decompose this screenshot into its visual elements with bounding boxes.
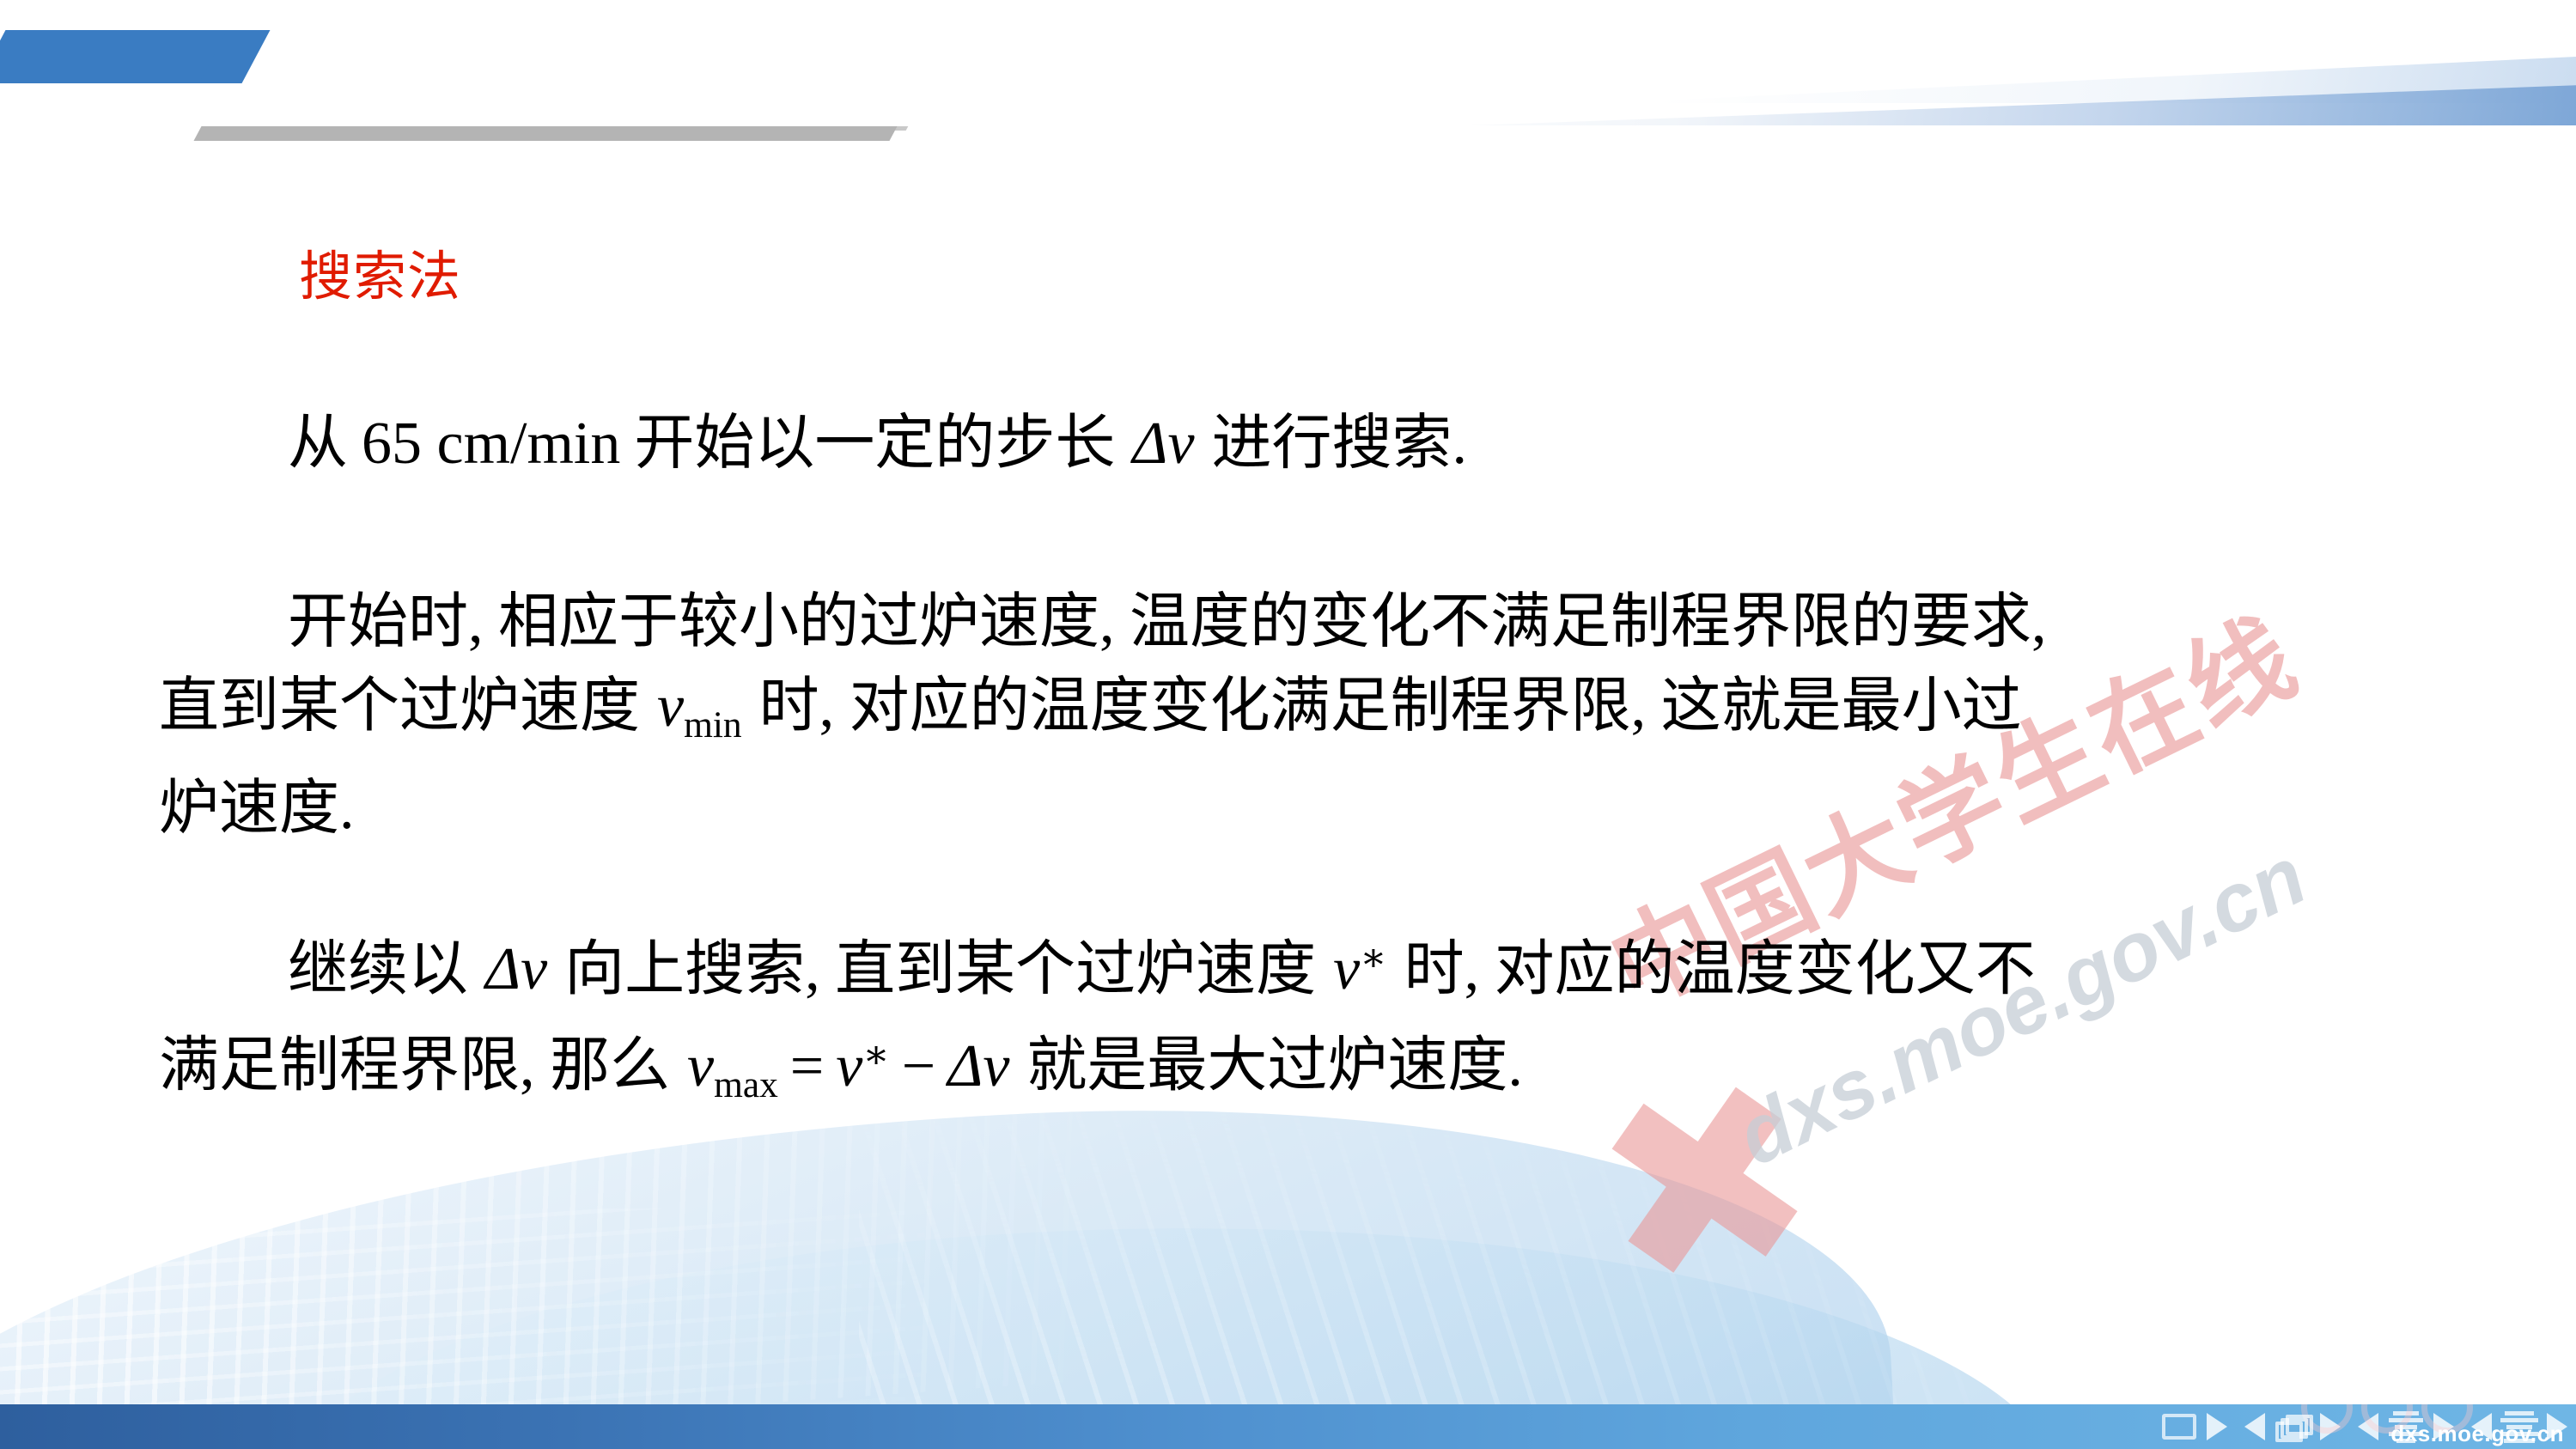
p2-v-min-symbol: vmin: [654, 673, 746, 740]
prev-frame-icon[interactable]: [2236, 1404, 2274, 1449]
slide-content: 搜索法 从65 cm/min开始以一定的步长Δv进行搜索. 开始时, 相应于较小…: [0, 0, 2576, 1449]
p1-speed-value: 65 cm/min: [362, 411, 620, 477]
p3-line1-lead: 继续以: [288, 936, 468, 1002]
p1-delta-v-symbol: Δv: [1129, 411, 1197, 477]
p3-v-star-symbol-2: v∗: [832, 1033, 892, 1099]
p3-delta-v-symbol-2: Δv: [944, 1033, 1013, 1099]
p3-line1-mid: 向上搜索, 直到某个过炉速度: [564, 936, 1316, 1002]
p2-line2-lead: 直到某个过炉速度: [159, 673, 640, 740]
p2-line3: 炉速度.: [159, 776, 355, 842]
p1-text-lead: 从: [288, 411, 348, 477]
p3-line2-lead: 满足制程界限, 那么: [159, 1033, 670, 1099]
equals-operator: =: [782, 1033, 832, 1099]
presentation-slide: ✖ 中国大学生在线 dxs.moe.gov.cn 搜索法 从65 cm/min开…: [0, 0, 2576, 1449]
p2-line2-tail: 时, 对应的温度变化满足制程界限, 这就是最小过: [759, 673, 2022, 740]
navbar-url-label: dxs.moe.gov.cn: [2390, 1421, 2564, 1447]
p3-line2-tail: 就是最大过炉速度.: [1026, 1033, 1523, 1099]
minus-operator: −: [893, 1033, 944, 1099]
paragraph-search-start: 从65 cm/min开始以一定的步长Δv进行搜索.: [159, 402, 2478, 486]
p3-line1-tail: 时, 对应的温度变化又不: [1404, 936, 2036, 1002]
paragraph-min-speed: 开始时, 相应于较小的过炉速度, 温度的变化不满足制程界限的要求, 直到某个过炉…: [159, 581, 2478, 851]
slide-indicator-icon[interactable]: [2160, 1404, 2198, 1449]
next-slide-icon[interactable]: [2198, 1404, 2236, 1449]
p3-v-max-symbol: vmax: [684, 1033, 782, 1099]
p2-line1: 开始时, 相应于较小的过炉速度, 温度的变化不满足制程界限的要求,: [288, 589, 2047, 655]
p1-text-mid: 开始以一定的步长: [634, 411, 1115, 477]
p3-v-star-symbol: v∗: [1330, 936, 1390, 1002]
beamer-navigation-bar[interactable]: dxs.moe.gov.cn: [0, 1404, 2576, 1449]
p1-text-tail: 进行搜索.: [1212, 411, 1468, 477]
slide-title: 搜索法: [299, 247, 461, 308]
paragraph-max-speed: 继续以Δv向上搜索, 直到某个过炉速度v∗时, 对应的温度变化又不 满足制程界限…: [159, 916, 2478, 1127]
p3-delta-v-symbol: Δv: [482, 936, 551, 1002]
